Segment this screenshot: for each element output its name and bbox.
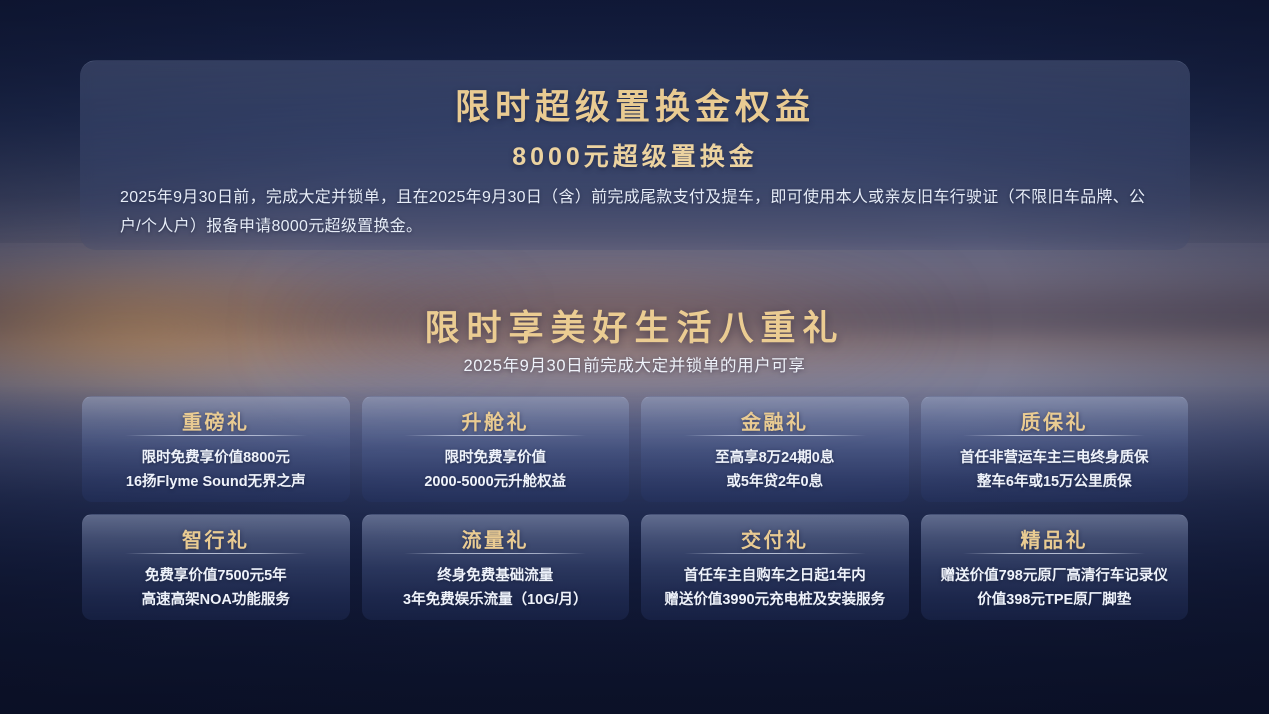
gift-card[interactable]: 智行礼 免费享价值7500元5年 高速高架NOA功能服务	[82, 514, 350, 620]
gift-card-title: 升舱礼	[362, 406, 630, 435]
trade-in-benefit-panel: 限时超级置换金权益 8000元超级置换金 2025年9月30日前，完成大定并锁单…	[80, 60, 1190, 250]
gift-card[interactable]: 质保礼 首任非营运车主三电终身质保 整车6年或15万公里质保	[921, 396, 1189, 502]
gift-card-line-1: 限时免费享价值	[368, 446, 624, 470]
gift-card[interactable]: 升舱礼 限时免费享价值 2000-5000元升舱权益	[362, 396, 630, 502]
gift-card-detail: 赠送价值798元原厂高清行车记录仪 价值398元TPE原厂脚垫	[927, 564, 1183, 612]
gift-card-title: 重磅礼	[82, 406, 350, 435]
gift-card[interactable]: 精品礼 赠送价值798元原厂高清行车记录仪 价值398元TPE原厂脚垫	[921, 514, 1189, 620]
hero-title: 限时超级置换金权益	[80, 79, 1190, 130]
gift-card[interactable]: 金融礼 至高享8万24期0息 或5年贷2年0息	[641, 396, 909, 502]
gift-card-line-1: 免费享价值7500元5年	[88, 564, 344, 588]
gift-card-detail: 首任车主自购车之日起1年内 赠送价值3990元充电桩及安装服务	[647, 564, 903, 612]
gift-card-detail: 至高享8万24期0息 或5年贷2年0息	[647, 446, 903, 494]
gift-card-line-1: 首任非营运车主三电终身质保	[927, 446, 1183, 470]
gift-card-line-1: 限时免费享价值8800元	[88, 446, 344, 470]
gift-card-line-2: 2000-5000元升舱权益	[368, 470, 624, 494]
gift-card-detail: 免费享价值7500元5年 高速高架NOA功能服务	[88, 564, 344, 612]
gift-card-line-2: 整车6年或15万公里质保	[927, 470, 1183, 494]
gift-card-line-1: 终身免费基础流量	[368, 564, 624, 588]
gift-card-title: 交付礼	[641, 524, 909, 553]
gift-card-title: 精品礼	[921, 524, 1189, 553]
gift-card-line-2: 价值398元TPE原厂脚垫	[927, 588, 1183, 612]
hero-terms-paragraph: 2025年9月30日前，完成大定并锁单，且在2025年9月30日（含）前完成尾款…	[120, 183, 1150, 241]
gift-card-line-1: 至高享8万24期0息	[647, 446, 903, 470]
gift-card-line-1: 赠送价值798元原厂高清行车记录仪	[927, 564, 1183, 588]
gift-card[interactable]: 重磅礼 限时免费享价值8800元 16扬Flyme Sound无界之声	[82, 396, 350, 502]
section-subtitle: 2025年9月30日前完成大定并锁单的用户可享	[0, 352, 1269, 376]
gift-card-detail: 终身免费基础流量 3年免费娱乐流量（10G/月）	[368, 564, 624, 612]
gift-card-line-2: 16扬Flyme Sound无界之声	[88, 470, 344, 494]
section-title: 限时享美好生活八重礼	[0, 300, 1269, 351]
gift-card[interactable]: 流量礼 终身免费基础流量 3年免费娱乐流量（10G/月）	[362, 514, 630, 620]
gift-card-line-2: 3年免费娱乐流量（10G/月）	[368, 588, 624, 612]
gift-card-line-2: 高速高架NOA功能服务	[88, 588, 344, 612]
gift-card[interactable]: 交付礼 首任车主自购车之日起1年内 赠送价值3990元充电桩及安装服务	[641, 514, 909, 620]
gift-card-detail: 限时免费享价值 2000-5000元升舱权益	[368, 446, 624, 494]
gift-card-title: 质保礼	[921, 406, 1189, 435]
gift-card-line-2: 赠送价值3990元充电桩及安装服务	[647, 588, 903, 612]
gift-card-detail: 限时免费享价值8800元 16扬Flyme Sound无界之声	[88, 446, 344, 494]
gift-card-detail: 首任非营运车主三电终身质保 整车6年或15万公里质保	[927, 446, 1183, 494]
gift-card-title: 流量礼	[362, 524, 630, 553]
gift-card-title: 智行礼	[82, 524, 350, 553]
gift-card-grid: 重磅礼 限时免费享价值8800元 16扬Flyme Sound无界之声 升舱礼 …	[82, 396, 1188, 620]
gift-card-line-2: 或5年贷2年0息	[647, 470, 903, 494]
gift-card-line-1: 首任车主自购车之日起1年内	[647, 564, 903, 588]
gift-card-title: 金融礼	[641, 406, 909, 435]
hero-subtitle: 8000元超级置换金	[80, 137, 1190, 173]
promo-stage: 限时超级置换金权益 8000元超级置换金 2025年9月30日前，完成大定并锁单…	[0, 0, 1269, 714]
